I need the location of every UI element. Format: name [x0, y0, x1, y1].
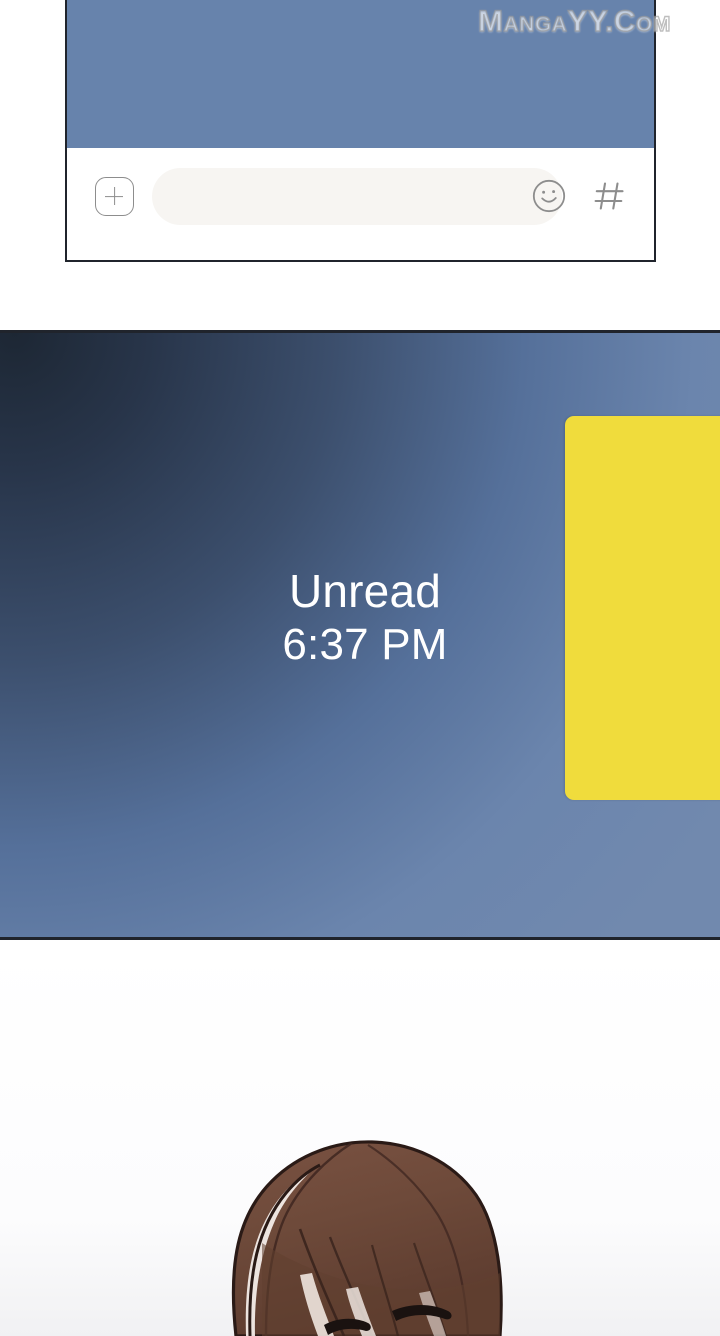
unread-gradient-panel: Unread 6:37 PM [0, 330, 720, 940]
message-input[interactable] [152, 168, 562, 225]
hash-icon[interactable] [590, 176, 630, 216]
character-illustration-panel [0, 943, 720, 1336]
chat-message-area [67, 0, 654, 148]
girl-head-illustration [0, 943, 720, 1336]
chat-window-panel [65, 0, 656, 262]
webtoon-page: MangaYY.Com Unread 6:37 PM [0, 0, 720, 1336]
smiley-face-icon[interactable] [531, 178, 567, 214]
plus-icon[interactable] [95, 177, 134, 216]
yellow-accent-card [565, 416, 720, 800]
chat-input-bar [67, 148, 654, 260]
